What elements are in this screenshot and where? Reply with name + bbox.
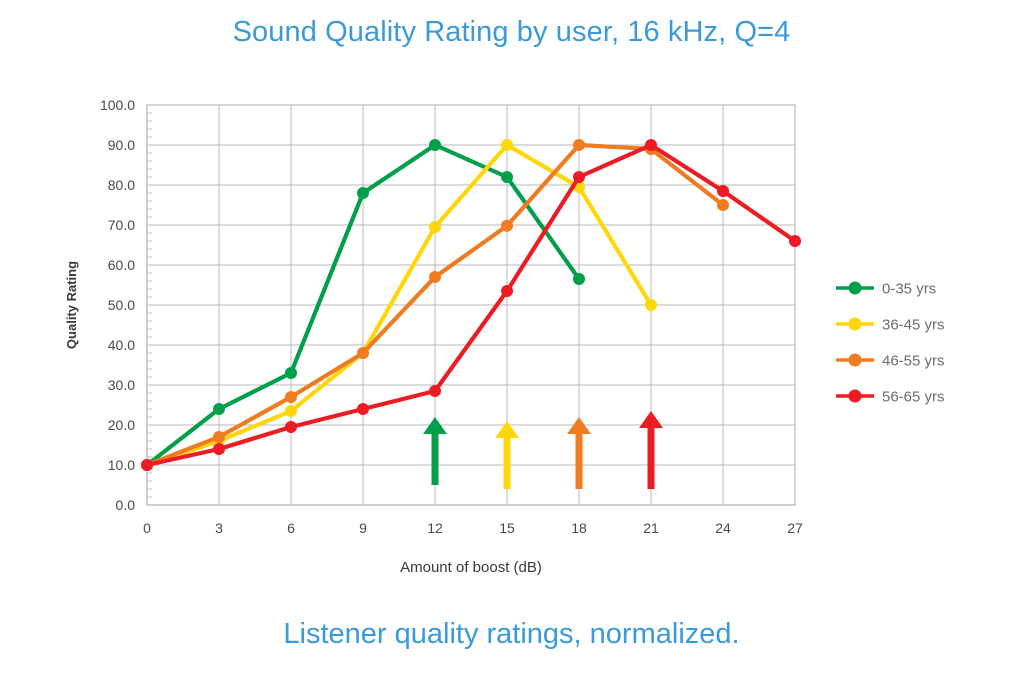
data-point xyxy=(141,459,153,471)
y-tick-label: 30.0 xyxy=(108,377,135,393)
legend-item: 46-55 yrs xyxy=(836,353,945,370)
x-tick-label: 3 xyxy=(215,520,223,536)
legend-item: 36-45 yrs xyxy=(836,317,945,334)
data-point xyxy=(501,285,513,297)
legend-swatch-marker xyxy=(849,354,862,367)
legend-label: 36-45 yrs xyxy=(882,317,945,334)
data-point xyxy=(573,273,585,285)
x-tick-label: 0 xyxy=(143,520,151,536)
legend-swatch-marker xyxy=(849,282,862,295)
data-point xyxy=(429,221,441,233)
y-tick-label: 10.0 xyxy=(108,457,135,473)
data-point xyxy=(501,220,513,232)
y-tick-label: 40.0 xyxy=(108,337,135,353)
line-chart: 0.010.020.030.040.050.060.070.080.090.01… xyxy=(0,80,1023,590)
data-point xyxy=(213,443,225,455)
data-point xyxy=(285,367,297,379)
legend-label: 46-55 yrs xyxy=(882,353,945,370)
data-point xyxy=(213,431,225,443)
x-tick-label: 15 xyxy=(499,520,515,536)
data-point xyxy=(285,391,297,403)
legend-label: 56-65 yrs xyxy=(882,389,945,406)
chart-legend: 0-35 yrs36-45 yrs46-55 yrs56-65 yrs xyxy=(836,281,945,406)
y-tick-label: 60.0 xyxy=(108,257,135,273)
data-point xyxy=(717,185,729,197)
legend-item: 0-35 yrs xyxy=(836,281,936,298)
data-point xyxy=(357,403,369,415)
chart-area: 0.010.020.030.040.050.060.070.080.090.01… xyxy=(0,80,1023,590)
data-point xyxy=(429,271,441,283)
y-tick-label: 50.0 xyxy=(108,297,135,313)
x-tick-label: 12 xyxy=(427,520,443,536)
legend-swatch-marker xyxy=(849,390,862,403)
data-point xyxy=(573,171,585,183)
data-point xyxy=(645,139,657,151)
data-point xyxy=(429,139,441,151)
chart-page: Sound Quality Rating by user, 16 kHz, Q=… xyxy=(0,0,1023,683)
x-tick-label: 9 xyxy=(359,520,367,536)
x-tick-label: 21 xyxy=(643,520,659,536)
data-point xyxy=(717,199,729,211)
y-tick-label: 0.0 xyxy=(116,497,136,513)
data-point xyxy=(501,171,513,183)
y-tick-label: 90.0 xyxy=(108,137,135,153)
data-point xyxy=(789,235,801,247)
y-tick-label: 70.0 xyxy=(108,217,135,233)
data-point xyxy=(357,347,369,359)
page-title: Sound Quality Rating by user, 16 kHz, Q=… xyxy=(0,16,1023,49)
data-point xyxy=(285,405,297,417)
y-tick-labels: 0.010.020.030.040.050.060.070.080.090.01… xyxy=(100,97,135,513)
legend-item: 56-65 yrs xyxy=(836,389,945,406)
data-point xyxy=(501,139,513,151)
data-point xyxy=(573,139,585,151)
legend-swatch-marker xyxy=(849,318,862,331)
data-point xyxy=(645,299,657,311)
data-point xyxy=(429,385,441,397)
data-point xyxy=(213,403,225,415)
x-tick-label: 6 xyxy=(287,520,295,536)
data-point xyxy=(357,187,369,199)
page-caption: Listener quality ratings, normalized. xyxy=(0,618,1023,651)
x-tick-label: 18 xyxy=(571,520,587,536)
y-tick-label: 80.0 xyxy=(108,177,135,193)
y-tick-label: 20.0 xyxy=(108,417,135,433)
x-tick-label: 27 xyxy=(787,520,803,536)
x-tick-labels: 0369121518212427 xyxy=(143,520,803,536)
legend-label: 0-35 yrs xyxy=(882,281,936,298)
data-point xyxy=(285,421,297,433)
x-axis-title: Amount of boost (dB) xyxy=(400,559,542,576)
y-tick-label: 100.0 xyxy=(100,97,135,113)
x-tick-label: 24 xyxy=(715,520,731,536)
y-axis-title: Quality Rating xyxy=(64,261,79,349)
